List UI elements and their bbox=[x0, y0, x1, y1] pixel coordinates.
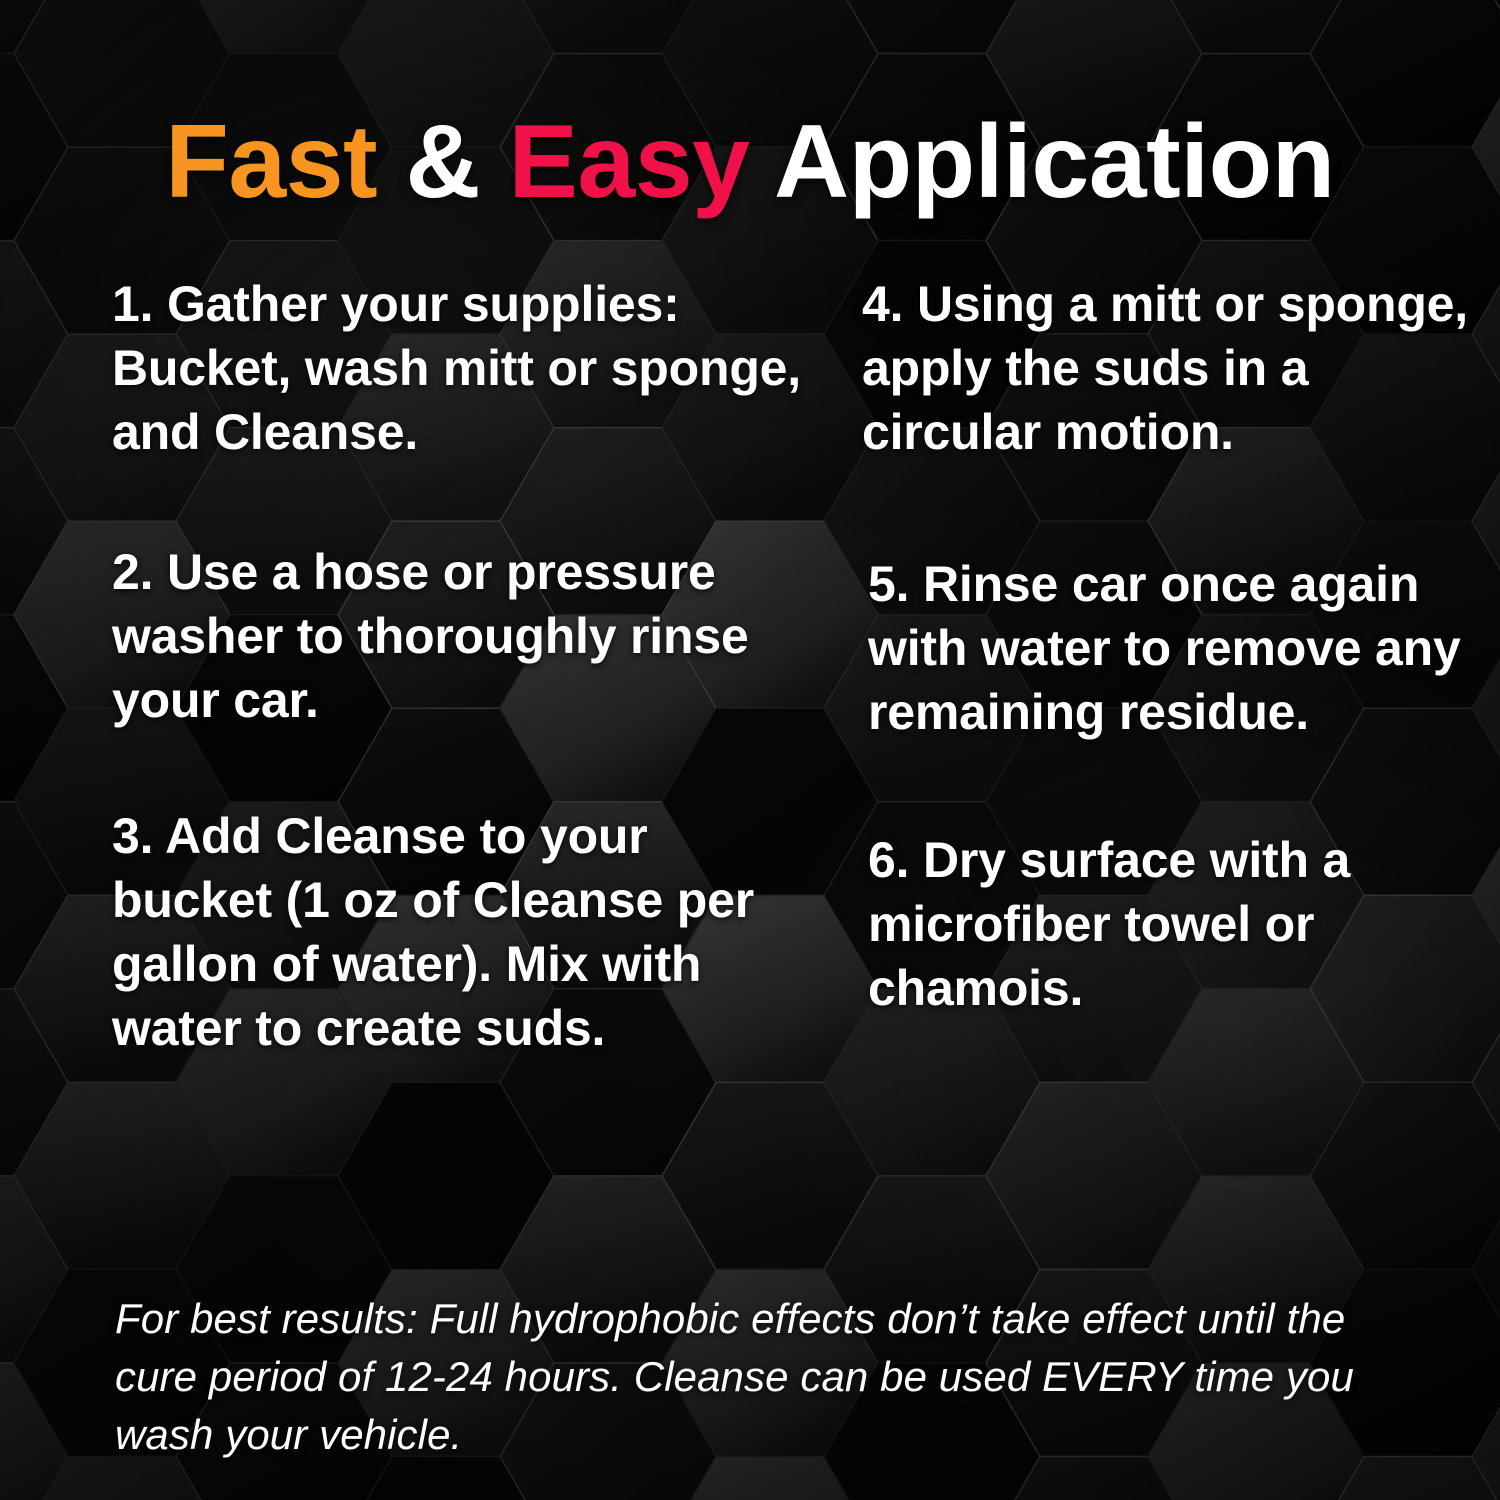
step-item-1: 1. Gather your supplies: Bucket, wash mi… bbox=[112, 272, 802, 464]
best-results-note: For best results: Full hydrophobic effec… bbox=[115, 1290, 1405, 1464]
steps-column-right: 4. Using a mitt or sponge, apply the sud… bbox=[862, 272, 1492, 1086]
title-word-ampersand: & bbox=[377, 104, 508, 220]
title-word-fast: Fast bbox=[165, 104, 377, 220]
step-item-5: 5. Rinse car once again with water to re… bbox=[862, 552, 1492, 744]
step-item-3: 3. Add Cleanse to your bucket (1 oz of C… bbox=[112, 804, 802, 1060]
title-word-application: Application bbox=[749, 104, 1334, 220]
steps-column-left: 1. Gather your supplies: Bucket, wash mi… bbox=[112, 272, 802, 1122]
step-item-2: 2. Use a hose or pressure washer to thor… bbox=[112, 540, 802, 732]
page-title: Fast & Easy Application bbox=[0, 108, 1500, 216]
title-word-easy: Easy bbox=[509, 104, 750, 220]
promo-poster: Fast & Easy Application 1. Gather your s… bbox=[0, 0, 1500, 1500]
step-item-4: 4. Using a mitt or sponge, apply the sud… bbox=[862, 272, 1492, 464]
step-item-6: 6. Dry surface with a microfiber towel o… bbox=[862, 828, 1492, 1020]
